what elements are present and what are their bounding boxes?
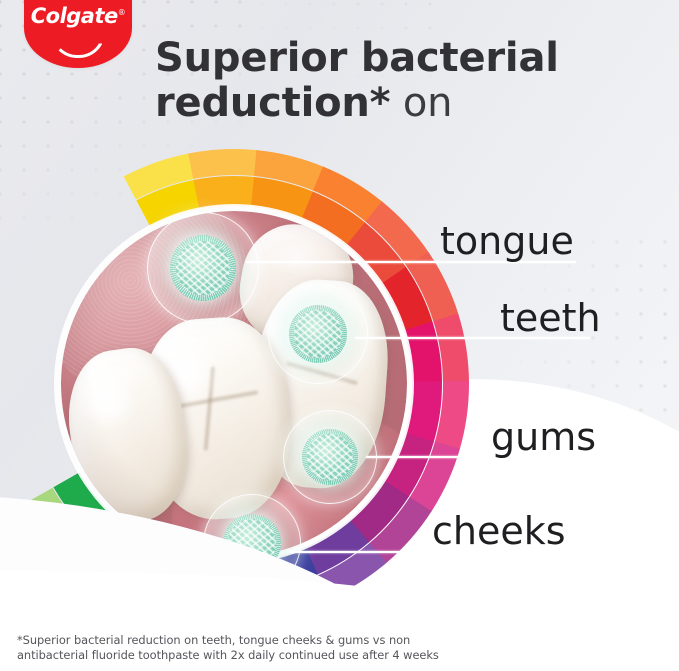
callout-label-teeth: teeth: [500, 296, 601, 340]
magnifier-bubble-tongue: [147, 212, 259, 324]
promo-banner: tongue teeth gums cheeks Colgate® Superi…: [0, 0, 679, 671]
footnote-line-2: antibacterial fluoride toothpaste with 2…: [17, 648, 657, 664]
colgate-wordmark-text: Colgate: [31, 4, 118, 28]
headline-line-2: reduction* on: [155, 81, 655, 126]
magnifier-bubble-teeth: [268, 284, 368, 384]
callout-label-tongue: tongue: [440, 219, 574, 263]
colgate-smile-icon: [51, 32, 105, 58]
footnote-line-1: *Superior bacterial reduction on teeth, …: [17, 633, 657, 649]
color-wheel-segment-inner: [193, 176, 254, 209]
registered-trademark-icon: ®: [118, 8, 126, 17]
bacteria-cluster-teeth: [289, 305, 347, 363]
bacteria-cluster-gums: [302, 429, 358, 485]
color-wheel-segment-inner: [405, 381, 442, 442]
magnifier-bubble-gums: [283, 410, 377, 504]
headline-line-1: Superior bacterial: [155, 36, 655, 81]
colgate-wordmark: Colgate®: [24, 4, 132, 28]
colgate-logo[interactable]: Colgate®: [24, 0, 132, 68]
footnote-disclaimer: *Superior bacterial reduction on teeth, …: [17, 633, 657, 664]
headline-line-2-light: on: [390, 80, 452, 126]
callout-label-gums: gums: [491, 415, 596, 459]
bacteria-cluster-tongue: [170, 235, 236, 301]
color-wheel-segment-outer: [188, 149, 257, 179]
page-title: Superior bacterial reduction* on: [155, 36, 655, 126]
callout-label-cheeks: cheeks: [432, 509, 566, 553]
headline-line-2-bold: reduction*: [155, 80, 390, 126]
bacteria-cluster-cheeks: [223, 514, 281, 572]
